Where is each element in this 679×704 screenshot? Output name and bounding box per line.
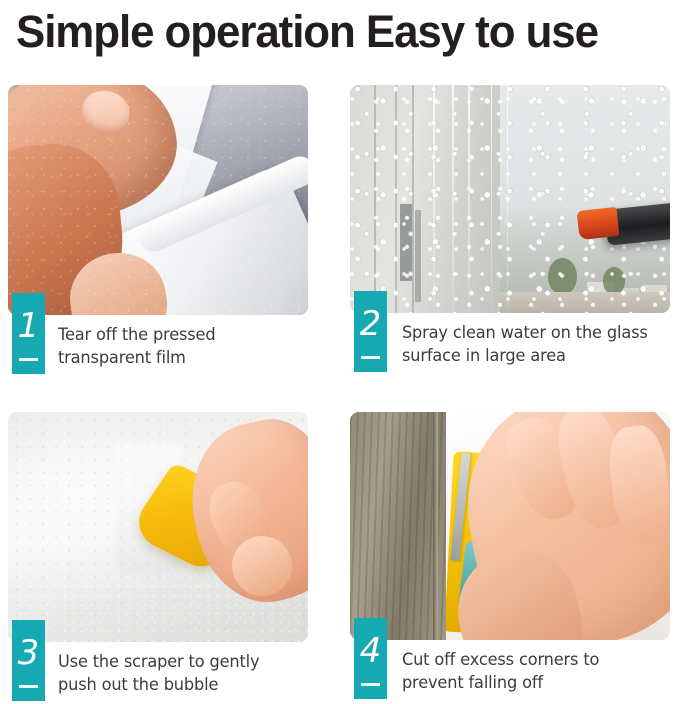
step-1-photo	[8, 85, 308, 315]
step-4-caption-row: 4 Cut off excess corners to prevent fall…	[350, 640, 670, 702]
step-3-caption-row: 3 Use the scraper to gently push out the…	[8, 642, 308, 704]
badge-underline-4	[361, 683, 380, 686]
step-4-caption: Cut off excess corners to prevent fallin…	[350, 640, 664, 694]
step-number-1: 1	[12, 307, 45, 345]
step-number-4: 4	[354, 632, 387, 670]
step-number-badge-3: 3	[12, 620, 45, 701]
step-3-photo	[8, 412, 308, 642]
step-number-3: 3	[12, 634, 45, 672]
badge-underline-2	[361, 356, 380, 359]
frame-edge	[433, 412, 438, 640]
step-number-badge-1: 1	[12, 293, 45, 374]
step-4-photo	[350, 412, 670, 640]
page-title: Simple operation Easy to use	[16, 2, 650, 64]
step-card-1: 1 Tear off the pressed transparent film	[8, 85, 308, 377]
water-droplets	[350, 85, 670, 313]
badge-underline-3	[19, 685, 38, 688]
step-2-caption-row: 2 Spray clean water on the glass surface…	[350, 313, 670, 375]
wood-grain	[350, 412, 446, 640]
step-card-2: 2 Spray clean water on the glass surface…	[350, 85, 670, 375]
step-number-badge-2: 2	[354, 291, 387, 372]
step-2-photo	[350, 85, 670, 313]
step-1-caption-row: 1 Tear off the pressed transparent film	[8, 315, 308, 377]
step-2-caption: Spray clean water on the glass surface i…	[350, 313, 664, 367]
step-number-badge-4: 4	[354, 618, 387, 699]
badge-underline-1	[19, 358, 38, 361]
step-1-caption: Tear off the pressed transparent film	[8, 315, 302, 369]
window-frame	[350, 412, 446, 640]
product-instruction-infographic: Simple operation Easy to use 1 Tear off …	[0, 0, 679, 698]
step-number-2: 2	[354, 305, 387, 343]
spray-nozzle	[577, 207, 620, 240]
step-card-4: 4 Cut off excess corners to prevent fall…	[350, 412, 670, 702]
film-texture-speckle	[8, 85, 308, 315]
step-card-3: 3 Use the scraper to gently push out the…	[8, 412, 308, 704]
step-3-caption: Use the scraper to gently push out the b…	[8, 642, 302, 696]
